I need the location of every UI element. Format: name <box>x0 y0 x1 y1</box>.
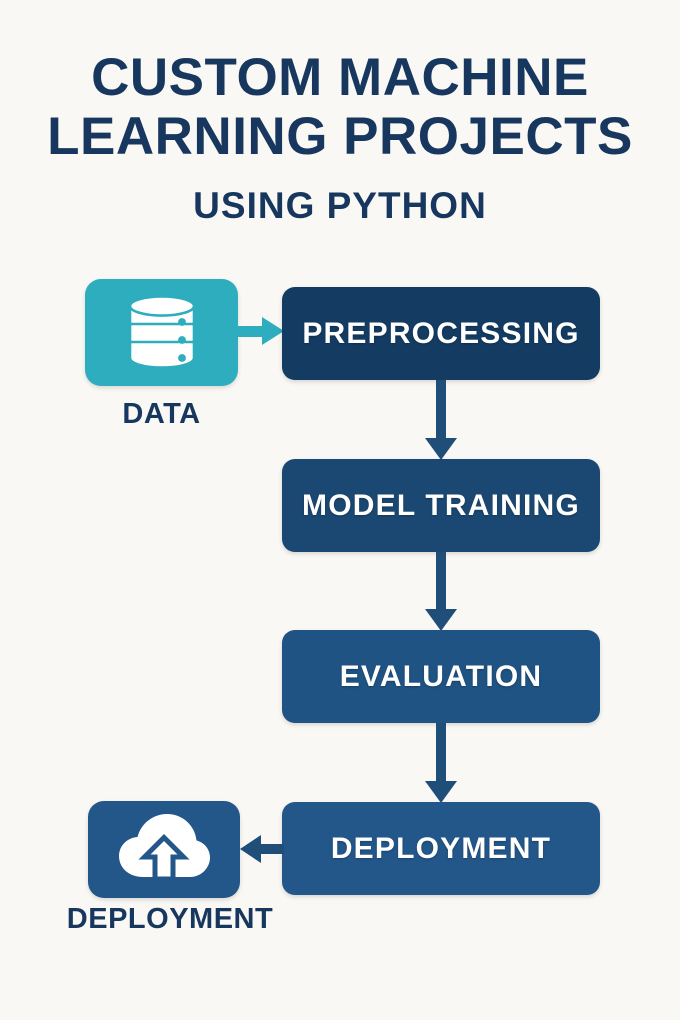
arrow-shaft <box>258 844 284 854</box>
arrow-evaluation-to-deployment <box>425 723 457 803</box>
node-evaluation-label: EVALUATION <box>340 660 543 694</box>
node-model-training[interactable]: MODEL TRAINING <box>282 459 600 552</box>
deployment-icon-tile <box>88 801 240 898</box>
arrow-data-to-preprocessing <box>238 317 284 346</box>
database-icon <box>126 293 198 372</box>
node-evaluation[interactable]: EVALUATION <box>282 630 600 723</box>
arrow-model-training-to-evaluation <box>425 552 457 631</box>
arrow-head <box>262 317 284 345</box>
node-preprocessing[interactable]: PREPROCESSING <box>282 287 600 380</box>
page-title: CUSTOM MACHINE LEARNING PROJECTS USING P… <box>0 48 680 227</box>
title-line-2: LEARNING PROJECTS <box>0 107 680 166</box>
node-deployment-label: DEPLOYMENT <box>331 832 551 866</box>
cloud-upload-icon <box>117 813 211 886</box>
arrow-preprocessing-to-model-training <box>425 380 457 460</box>
arrow-head <box>425 609 457 631</box>
page-subtitle: USING PYTHON <box>0 185 680 227</box>
arrow-deployment-to-target <box>240 835 284 863</box>
arrow-head <box>425 438 457 460</box>
deployment-caption: DEPLOYMENT <box>0 903 340 936</box>
data-icon-tile <box>85 279 238 386</box>
arrow-shaft <box>436 380 446 440</box>
arrow-shaft <box>436 552 446 611</box>
arrow-head <box>240 835 261 863</box>
arrow-head <box>425 781 457 803</box>
node-deployment[interactable]: DEPLOYMENT <box>282 802 600 895</box>
node-preprocessing-label: PREPROCESSING <box>302 317 579 351</box>
title-line-1: CUSTOM MACHINE <box>0 48 680 107</box>
arrow-shaft <box>238 326 264 337</box>
node-model-training-label: MODEL TRAINING <box>302 489 580 523</box>
arrow-shaft <box>436 723 446 783</box>
poster-canvas: CUSTOM MACHINE LEARNING PROJECTS USING P… <box>0 0 680 1020</box>
data-caption: DATA <box>0 398 323 431</box>
